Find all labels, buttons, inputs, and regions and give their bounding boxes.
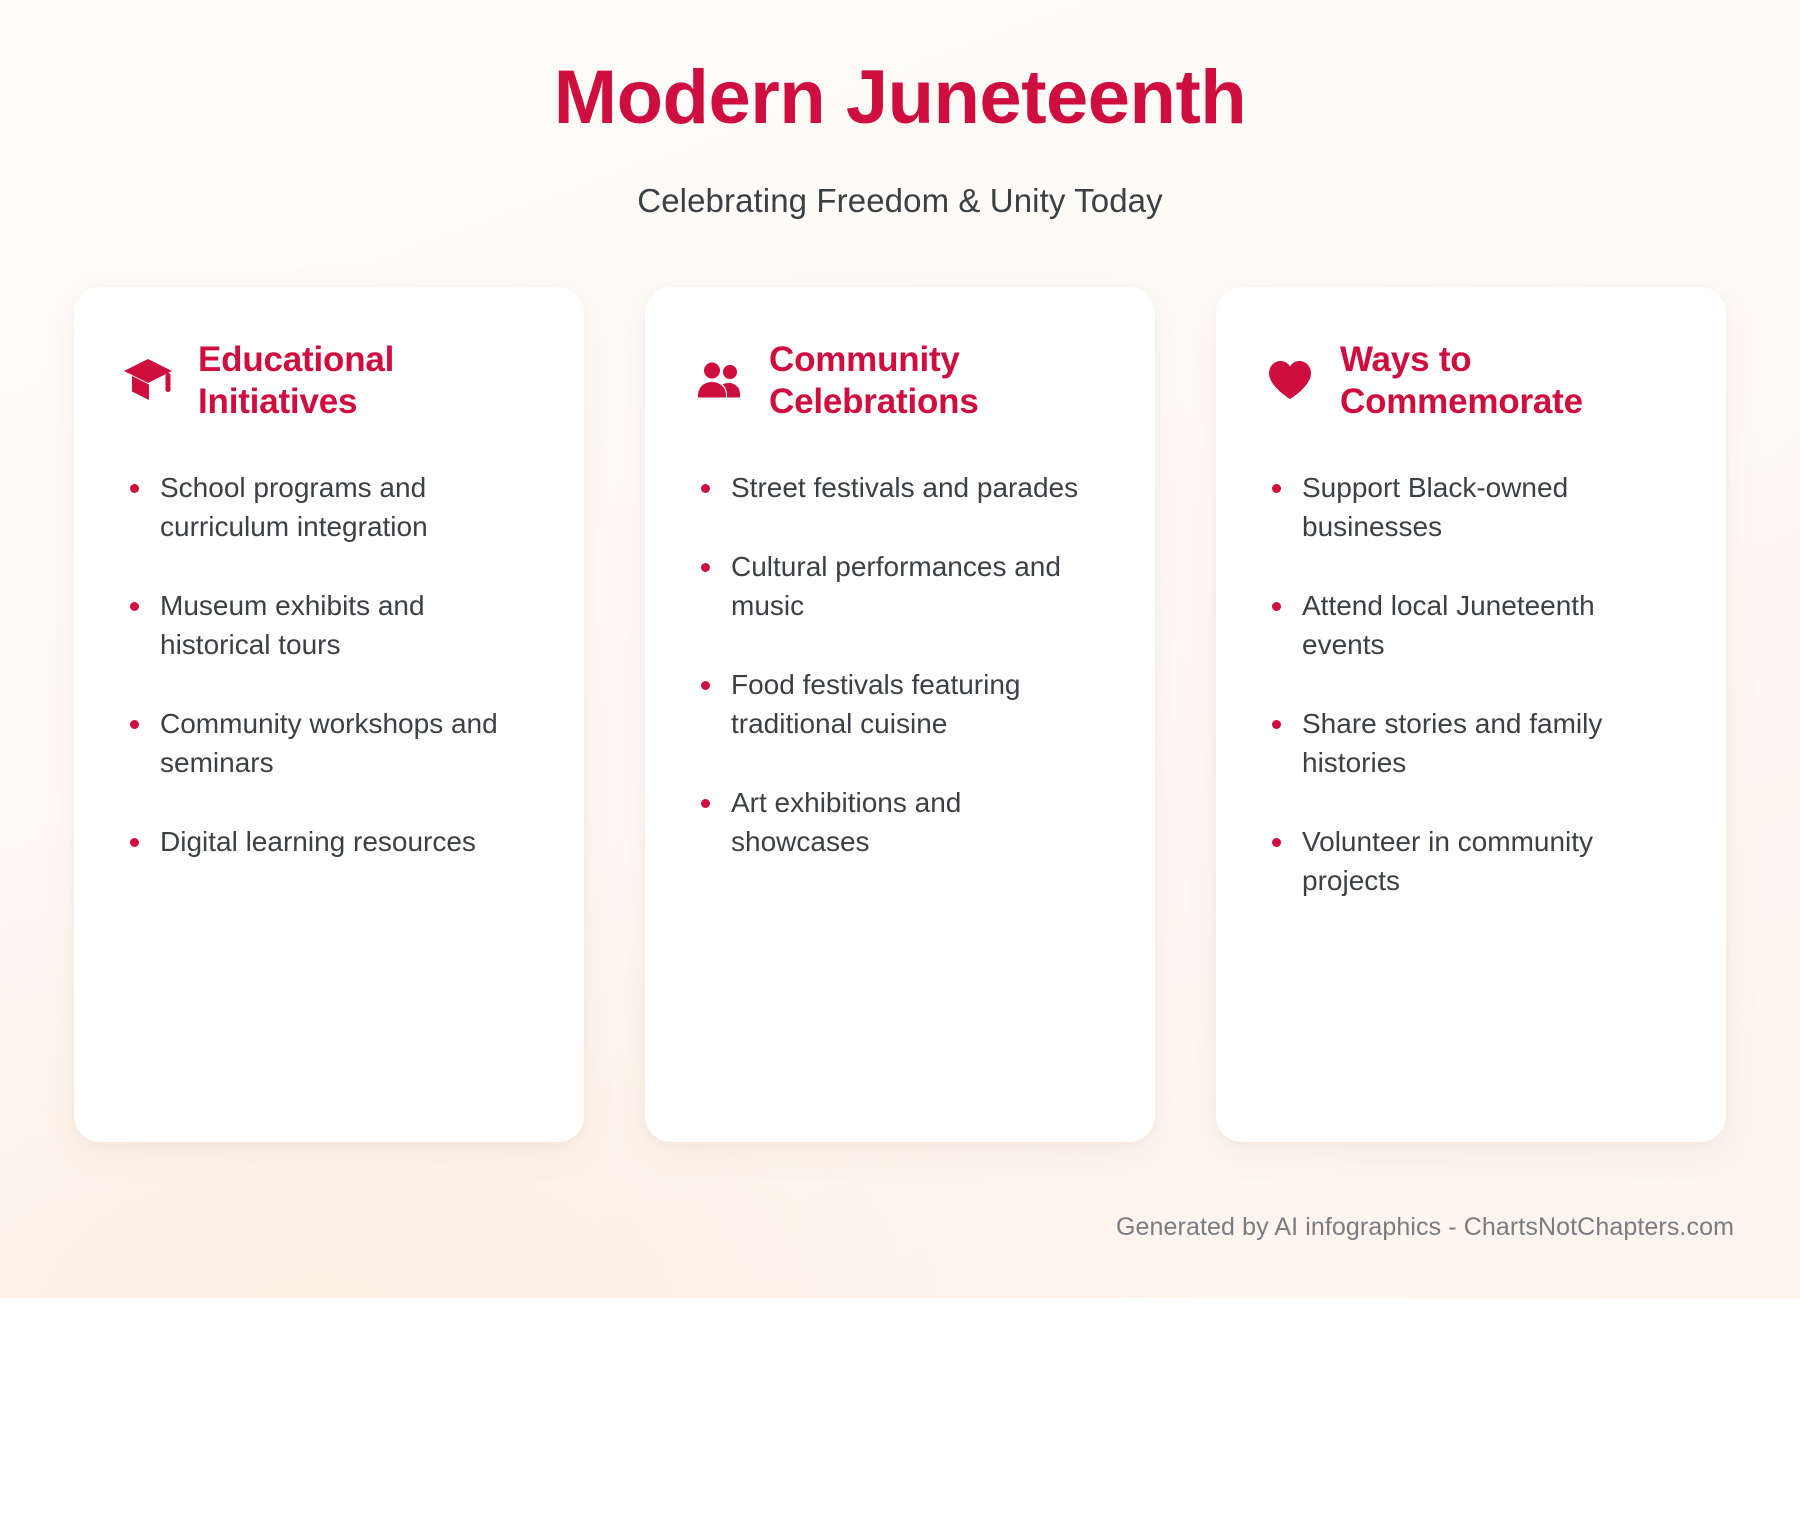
header: Modern Juneteenth Celebrating Freedom & … [0, 0, 1800, 220]
list-item-text: Support Black-owned businesses [1302, 472, 1568, 542]
list-item: Digital learning resources [122, 823, 536, 862]
list-item: Food festivals featuring traditional cui… [693, 666, 1107, 744]
infographic-canvas: Modern Juneteenth Celebrating Freedom & … [0, 0, 1800, 1298]
card-community-celebrations: Community Celebrations Street festivals … [645, 287, 1155, 1142]
bullet-dot-icon [701, 681, 710, 690]
bullet-dot-icon [1272, 720, 1281, 729]
list-item-text: Art exhibitions and showcases [731, 787, 961, 857]
bullet-list: Street festivals and parades Cultural pe… [693, 469, 1107, 861]
graduation-cap-icon [122, 351, 174, 409]
card-header: Educational Initiatives [122, 339, 536, 424]
card-header: Ways to Commemorate [1264, 339, 1678, 424]
bullet-dot-icon [1272, 838, 1281, 847]
bullet-dot-icon [701, 799, 710, 808]
footer-credit: Generated by AI infographics - ChartsNot… [1116, 1213, 1734, 1242]
list-item: Volunteer in community projects [1264, 823, 1678, 901]
cards-row: Educational Initiatives School programs … [0, 287, 1800, 1142]
list-item-text: Attend local Juneteenth events [1302, 590, 1595, 660]
heart-icon [1264, 351, 1316, 409]
list-item-text: Community workshops and seminars [160, 708, 498, 778]
page-title: Modern Juneteenth [0, 58, 1800, 138]
list-item-text: Street festivals and parades [731, 472, 1078, 503]
list-item-text: Volunteer in community projects [1302, 826, 1593, 896]
list-item: Art exhibitions and showcases [693, 784, 1107, 862]
bullet-list: School programs and curriculum integrati… [122, 469, 536, 861]
bullet-dot-icon [1272, 602, 1281, 611]
list-item-text: Cultural performances and music [731, 551, 1061, 621]
list-item: Community workshops and seminars [122, 705, 536, 783]
card-educational-initiatives: Educational Initiatives School programs … [74, 287, 584, 1142]
list-item-text: School programs and curriculum integrati… [160, 472, 428, 542]
card-ways-to-commemorate: Ways to Commemorate Support Black-owned … [1216, 287, 1726, 1142]
list-item-text: Food festivals featuring traditional cui… [731, 669, 1021, 739]
list-item-text: Share stories and family histories [1302, 708, 1602, 778]
bullet-dot-icon [701, 484, 710, 493]
list-item: Museum exhibits and historical tours [122, 587, 536, 665]
people-group-icon [693, 351, 745, 409]
list-item: Attend local Juneteenth events [1264, 587, 1678, 665]
bullet-dot-icon [130, 838, 139, 847]
bullet-dot-icon [130, 484, 139, 493]
bullet-list: Support Black-owned businesses Attend lo… [1264, 469, 1678, 900]
list-item-text: Museum exhibits and historical tours [160, 590, 425, 660]
bullet-dot-icon [1272, 484, 1281, 493]
card-title: Ways to Commemorate [1340, 339, 1678, 424]
card-title: Educational Initiatives [198, 339, 536, 424]
list-item: Share stories and family histories [1264, 705, 1678, 783]
page-subtitle: Celebrating Freedom & Unity Today [0, 182, 1800, 220]
list-item: Cultural performances and music [693, 548, 1107, 626]
card-title: Community Celebrations [769, 339, 1107, 424]
list-item: School programs and curriculum integrati… [122, 469, 536, 547]
card-header: Community Celebrations [693, 339, 1107, 424]
bullet-dot-icon [701, 563, 710, 572]
list-item: Support Black-owned businesses [1264, 469, 1678, 547]
bullet-dot-icon [130, 602, 139, 611]
bullet-dot-icon [130, 720, 139, 729]
list-item: Street festivals and parades [693, 469, 1107, 508]
list-item-text: Digital learning resources [160, 826, 476, 857]
